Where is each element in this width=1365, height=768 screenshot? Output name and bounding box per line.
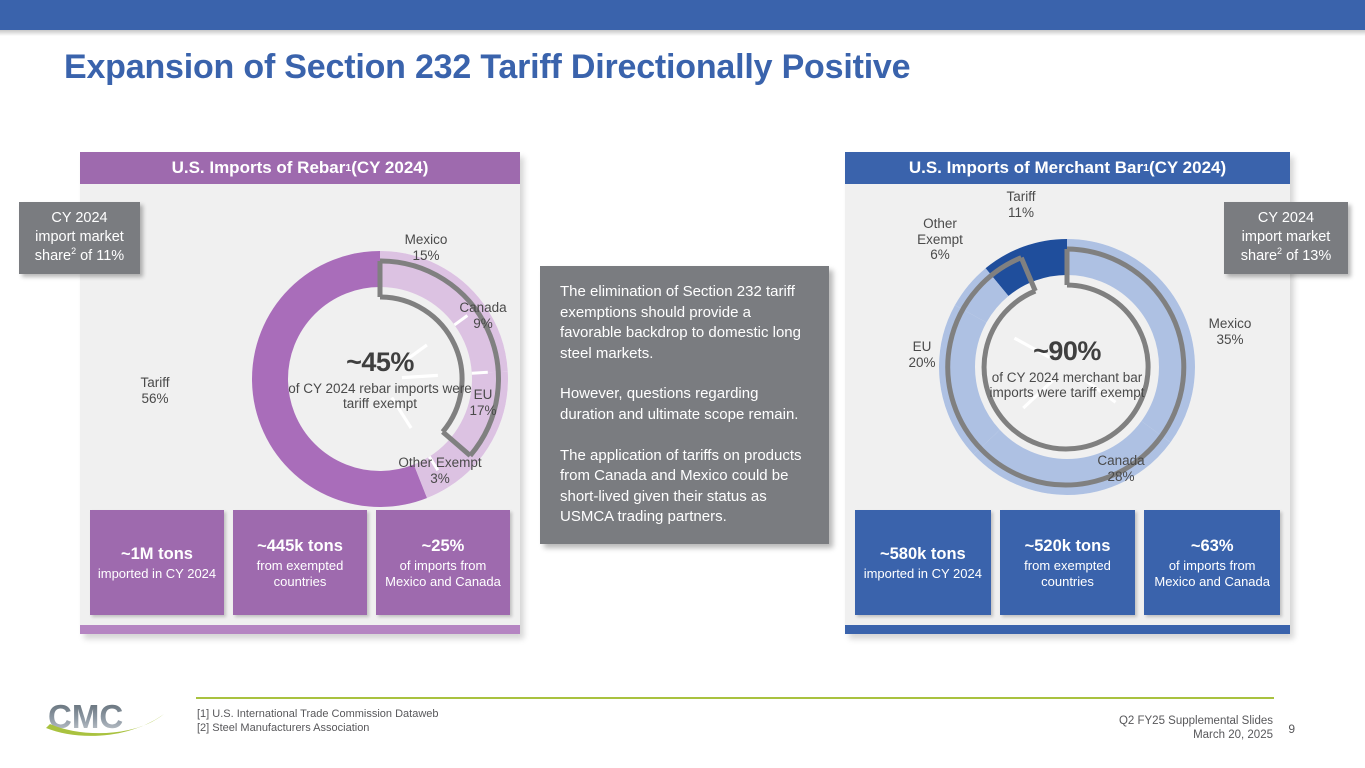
merchant-bar-label-other-exempt: Other Exempt 6% xyxy=(885,216,995,263)
commentary-box: The elimination of Section 232 tariff ex… xyxy=(540,266,829,544)
rebar-callout-line-3-post: of 11% xyxy=(76,248,124,264)
merchant-bar-center-big: ~90% xyxy=(1033,336,1101,367)
rebar-callout-line-2: import market xyxy=(35,229,124,245)
merchant-bar-donut-center-label: ~90% of CY 2024 merchant bar imports wer… xyxy=(969,309,1165,427)
rebar-chart-panel: U.S. Imports of Rebar1 (CY 2024) xyxy=(80,152,520,634)
rebar-panel-title-main: U.S. Imports of Rebar xyxy=(172,158,346,178)
merchant-bar-label-mexico-name: Mexico xyxy=(1209,316,1252,331)
deck-date: March 20, 2025 xyxy=(1119,728,1273,742)
top-bar-shadow xyxy=(0,30,1365,36)
merchant-bar-stat-box: ~63% of imports from Mexico and Canada xyxy=(1144,510,1280,615)
merchant-bar-label-mexico-pct: 35% xyxy=(1216,332,1243,347)
merchant-bar-market-share-callout: CY 2024 import market share2 of 13% xyxy=(1224,202,1348,274)
merchant-bar-callout-line-3-post: of 13% xyxy=(1282,248,1331,264)
rebar-stat-caption: imported in CY 2024 xyxy=(98,566,216,582)
rebar-label-mexico: Mexico 15% xyxy=(366,232,486,263)
cmc-logo: CMC xyxy=(44,697,168,741)
rebar-label-mexico-name: Mexico xyxy=(405,232,448,247)
footnote-1: [1] U.S. International Trade Commission … xyxy=(197,708,439,722)
rebar-label-mexico-pct: 15% xyxy=(412,248,439,263)
merchant-bar-label-eu-pct: 20% xyxy=(908,355,935,370)
rebar-label-eu: EU 17% xyxy=(428,387,538,418)
footnotes: [1] U.S. International Trade Commission … xyxy=(197,708,439,735)
merchant-bar-label-other-exempt-name-1: Other xyxy=(923,216,957,231)
merchant-bar-label-eu: EU 20% xyxy=(867,339,977,370)
merchant-bar-stat-value: ~63% xyxy=(1191,536,1234,556)
merchant-bar-stat-box: ~520k tons from exempted countries xyxy=(1000,510,1136,615)
merchant-bar-label-tariff-pct: 11% xyxy=(1008,205,1034,220)
rebar-label-eu-pct: 17% xyxy=(469,403,496,418)
rebar-stat-value: ~445k tons xyxy=(257,536,343,556)
rebar-label-tariff-pct: 56% xyxy=(141,391,168,406)
merchant-bar-stat-caption: imported in CY 2024 xyxy=(864,566,982,582)
commentary-paragraph-2: However, questions regarding duration an… xyxy=(560,384,811,425)
rebar-panel-title: U.S. Imports of Rebar1 (CY 2024) xyxy=(80,152,520,184)
merchant-bar-label-canada-pct: 28% xyxy=(1107,469,1134,484)
merchant-bar-stat-boxes: ~580k tons imported in CY 2024 ~520k ton… xyxy=(855,510,1280,615)
rebar-label-canada: Canada 9% xyxy=(428,300,538,331)
rebar-label-tariff-name: Tariff xyxy=(140,375,169,390)
rebar-panel-title-tail: (CY 2024) xyxy=(351,158,428,178)
merchant-bar-label-mexico: Mexico 35% xyxy=(1175,316,1285,347)
merchant-bar-callout-line-3-pre: share xyxy=(1241,248,1277,264)
merchant-bar-label-canada: Canada 28% xyxy=(1066,453,1176,484)
rebar-label-other-exempt: Other Exempt 3% xyxy=(360,455,520,486)
footnote-2: [2] Steel Manufacturers Association xyxy=(197,722,439,736)
commentary-paragraph-3: The application of tariffs on products f… xyxy=(560,446,811,528)
merchant-bar-label-tariff-name: Tariff xyxy=(1006,189,1035,204)
rebar-label-canada-name: Canada xyxy=(459,300,506,315)
rebar-callout-line-1: CY 2024 xyxy=(51,210,107,226)
merchant-bar-center-sub: of CY 2024 merchant bar imports were tar… xyxy=(969,370,1165,401)
merchant-bar-stat-value: ~520k tons xyxy=(1025,536,1111,556)
rebar-label-eu-name: EU xyxy=(474,387,493,402)
rebar-center-big: ~45% xyxy=(346,347,414,378)
rebar-label-canada-pct: 9% xyxy=(473,316,493,331)
rebar-callout-line-3-pre: share xyxy=(35,248,71,264)
rebar-label-other-exempt-pct: 3% xyxy=(430,471,450,486)
merchant-bar-label-other-exempt-pct: 6% xyxy=(930,247,950,262)
rebar-stat-value: ~25% xyxy=(422,536,465,556)
rebar-panel-body: ~45% of CY 2024 rebar imports were tarif… xyxy=(80,184,520,625)
deck-info: Q2 FY25 Supplemental Slides March 20, 20… xyxy=(1119,714,1273,742)
rebar-stat-value: ~1M tons xyxy=(121,544,193,564)
commentary-paragraph-1: The elimination of Section 232 tariff ex… xyxy=(560,282,811,364)
merchant-bar-callout-line-1: CY 2024 xyxy=(1258,210,1314,226)
merchant-bar-stat-value: ~580k tons xyxy=(880,544,966,564)
top-accent-bar xyxy=(0,0,1365,30)
rebar-stat-box: ~1M tons imported in CY 2024 xyxy=(90,510,224,615)
page-number: 9 xyxy=(1288,722,1295,736)
rebar-stat-box: ~445k tons from exempted countries xyxy=(233,510,367,615)
rebar-stat-caption: of imports from Mexico and Canada xyxy=(381,558,505,589)
rebar-panel-footer-bar xyxy=(80,625,520,634)
merchant-bar-panel-title-tail: (CY 2024) xyxy=(1149,158,1226,178)
merchant-bar-stat-box: ~580k tons imported in CY 2024 xyxy=(855,510,991,615)
rebar-stat-box: ~25% of imports from Mexico and Canada xyxy=(376,510,510,615)
merchant-bar-panel-title-main: U.S. Imports of Merchant Bar xyxy=(909,158,1143,178)
slide: Expansion of Section 232 Tariff Directio… xyxy=(0,0,1365,768)
merchant-bar-label-canada-name: Canada xyxy=(1097,453,1144,468)
cmc-logo-svg: CMC xyxy=(44,697,168,741)
merchant-bar-callout-line-2: import market xyxy=(1242,229,1331,245)
rebar-label-other-exempt-name: Other Exempt xyxy=(398,455,481,470)
panel-inner: U.S. Imports of Rebar1 (CY 2024) xyxy=(80,152,520,634)
merchant-bar-stat-caption: from exempted countries xyxy=(1005,558,1131,589)
merchant-bar-stat-caption: of imports from Mexico and Canada xyxy=(1149,558,1275,589)
rebar-label-tariff: Tariff 56% xyxy=(100,375,210,406)
page-title: Expansion of Section 232 Tariff Directio… xyxy=(64,48,1164,87)
merchant-bar-label-eu-name: EU xyxy=(913,339,932,354)
merchant-bar-label-other-exempt-name-2: Exempt xyxy=(917,232,963,247)
rebar-market-share-callout: CY 2024 import market share2 of 11% xyxy=(19,202,140,274)
merchant-bar-panel-footer-bar xyxy=(845,625,1290,634)
footer-divider xyxy=(196,697,1274,699)
rebar-stat-boxes: ~1M tons imported in CY 2024 ~445k tons … xyxy=(90,510,510,615)
deck-name: Q2 FY25 Supplemental Slides xyxy=(1119,714,1273,728)
rebar-stat-caption: from exempted countries xyxy=(238,558,362,589)
merchant-bar-panel-title: U.S. Imports of Merchant Bar1 (CY 2024) xyxy=(845,152,1290,184)
